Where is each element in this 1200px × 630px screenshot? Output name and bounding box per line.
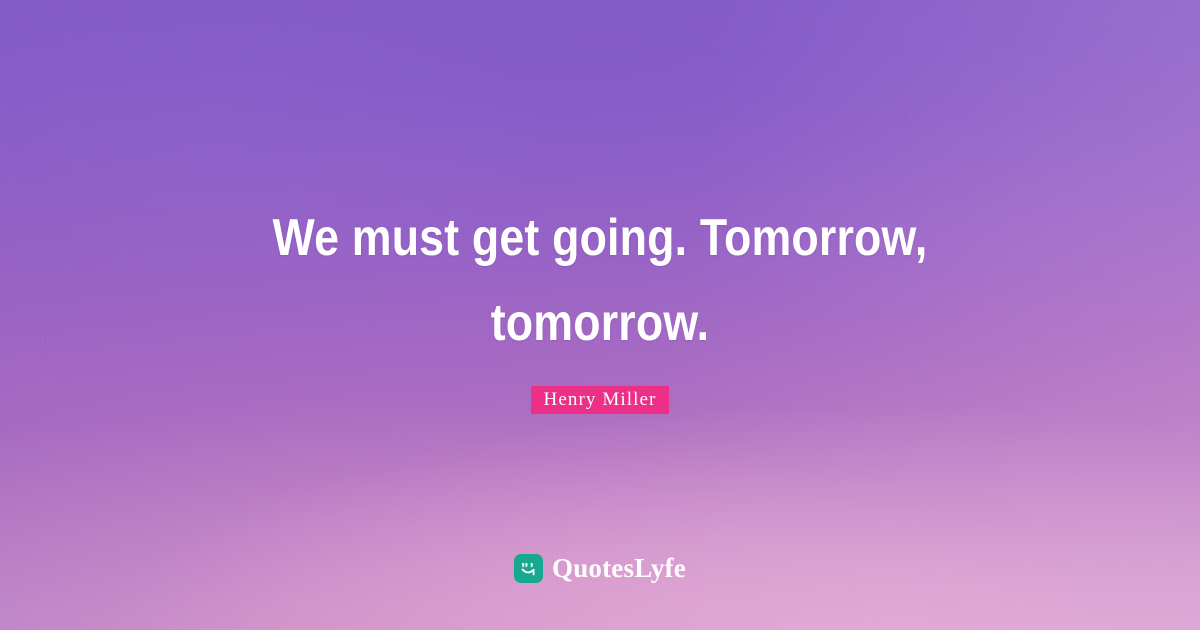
quote-line-2: tomorrow. [196, 281, 1004, 366]
quotes-smiley-icon [514, 554, 543, 583]
author-attribution: Henry Miller [0, 386, 1200, 414]
quote-card-content: We must get going. Tomorrow, tomorrow. H… [0, 0, 1200, 630]
quote-line-1: We must get going. Tomorrow, [196, 196, 1004, 281]
brand-watermark: QuotesLyfe [0, 554, 1200, 583]
author-name-badge: Henry Miller [531, 386, 670, 414]
quote-block: We must get going. Tomorrow, tomorrow. [0, 196, 1200, 366]
brand-name: QuotesLyfe [552, 554, 686, 583]
quote-card: We must get going. Tomorrow, tomorrow. H… [0, 0, 1200, 630]
